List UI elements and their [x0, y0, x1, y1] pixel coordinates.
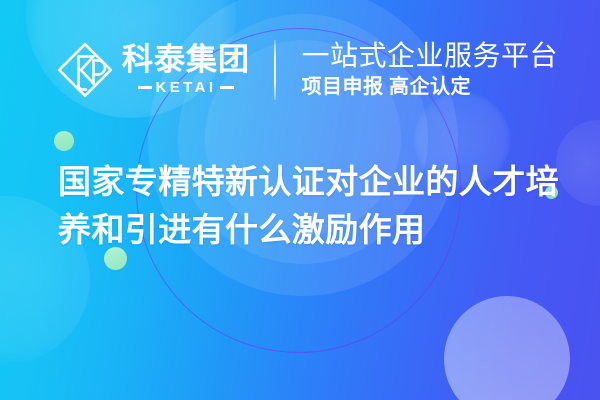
- brand-wordmark: 科泰集团 KETAI: [122, 44, 250, 95]
- wordmark-rule-left: [138, 86, 152, 89]
- banner-header: 科泰集团 KETAI 一站式企业服务平台 项目申报 高企认定: [56, 40, 558, 100]
- tagline-secondary: 项目申报 高企认定: [302, 75, 559, 100]
- tagline-group: 一站式企业服务平台 项目申报 高企认定: [302, 40, 559, 100]
- ketai-diamond-monogram-icon: [56, 41, 114, 99]
- tagline-primary: 一站式企业服务平台: [302, 40, 559, 72]
- brand-logo[interactable]: 科泰集团 KETAI: [56, 41, 250, 99]
- brand-name-en: KETAI: [152, 79, 221, 96]
- promo-banner: 科泰集团 KETAI 一站式企业服务平台 项目申报 高企认定 国家专精特新认证对…: [0, 0, 600, 400]
- wordmark-rule-right: [220, 86, 234, 89]
- brand-latin-row: KETAI: [122, 79, 250, 96]
- light-circle-bottom-right: [444, 296, 570, 400]
- green-dot-left: [54, 131, 74, 151]
- headline-text: 国家专精特新认证对企业的人才培养和引进有什么激励作用: [58, 158, 564, 253]
- header-divider: [274, 40, 276, 100]
- brand-name-cn: 科泰集团: [122, 44, 250, 76]
